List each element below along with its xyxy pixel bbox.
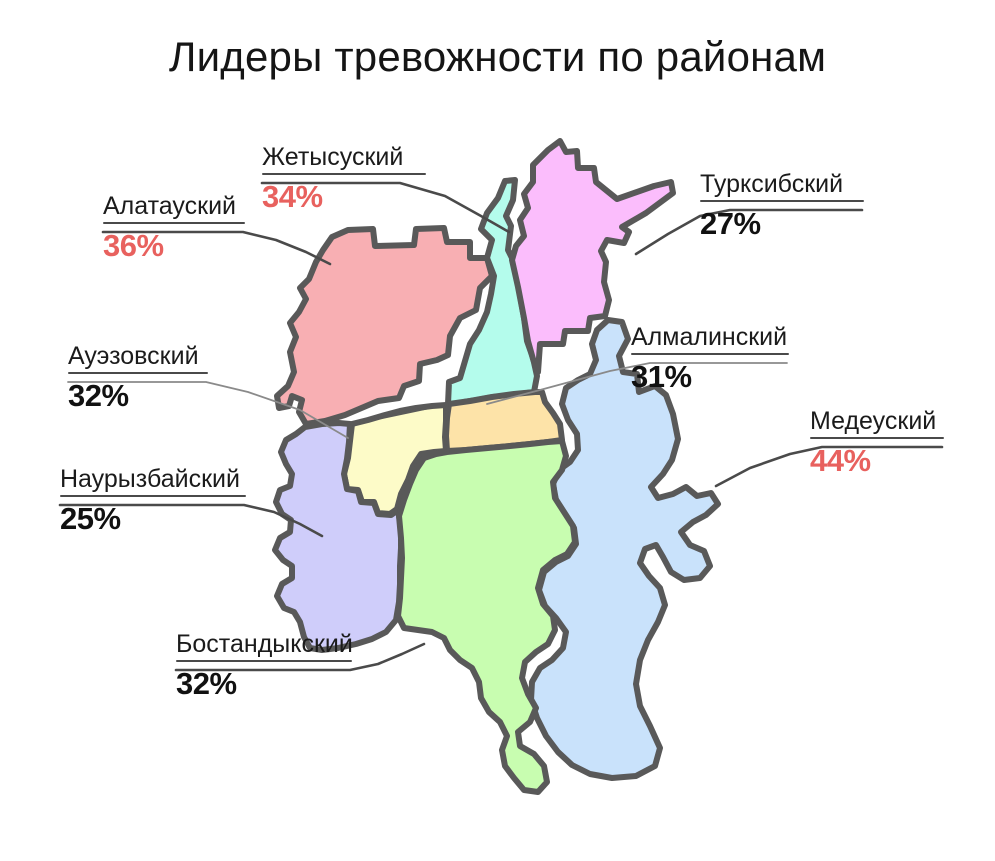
callout-turksib[interactable]: Турксибский 27% — [700, 170, 864, 242]
callout-nauryzbay-value: 25% — [60, 497, 246, 537]
callout-bostandyk[interactable]: Бостандыкский 32% — [176, 630, 352, 702]
infographic-root: Лидеры тревожности по районам — [0, 0, 995, 861]
callout-alatau-value: 36% — [103, 224, 245, 264]
callout-medeu[interactable]: Медеуский 44% — [810, 407, 944, 479]
callout-auezov[interactable]: Ауэзовский 32% — [68, 342, 208, 414]
callout-nauryzbay-name: Наурызбайский — [60, 465, 246, 495]
callout-medeu-name: Медеуский — [810, 407, 944, 437]
callout-alatau[interactable]: Алатауский 36% — [103, 192, 245, 264]
callout-almaly[interactable]: Алмалинский 31% — [631, 323, 789, 395]
callout-nauryzbay[interactable]: Наурызбайский 25% — [60, 465, 246, 537]
callout-auezov-value: 32% — [68, 374, 208, 414]
callout-zhetysu-name: Жетысуский — [262, 143, 426, 173]
callout-turksib-value: 27% — [700, 202, 864, 242]
callout-medeu-value: 44% — [810, 439, 944, 479]
callout-turksib-name: Турксибский — [700, 170, 864, 200]
callout-zhetysu-value: 34% — [262, 175, 426, 215]
callout-bostandyk-value: 32% — [176, 662, 352, 702]
callout-auezov-name: Ауэзовский — [68, 342, 208, 372]
callout-alatau-name: Алатауский — [103, 192, 245, 222]
callout-almaly-value: 31% — [631, 355, 789, 395]
callout-bostandyk-name: Бостандыкский — [176, 630, 352, 660]
callout-almaly-name: Алмалинский — [631, 323, 789, 353]
callout-zhetysu[interactable]: Жетысуский 34% — [262, 143, 426, 215]
